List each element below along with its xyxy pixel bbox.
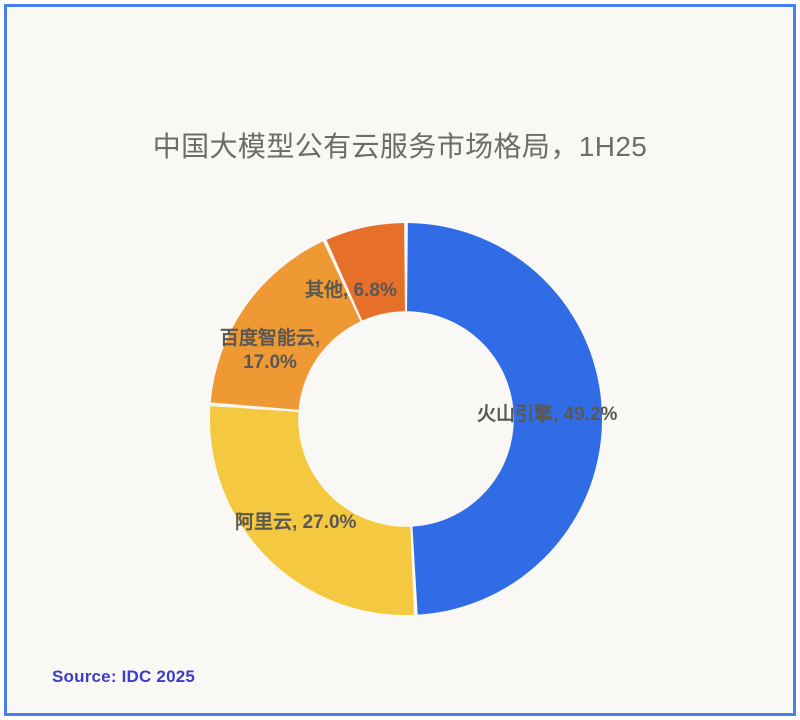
slice-label-aliyun: 阿里云, 27.0% bbox=[235, 511, 356, 535]
donut-slice[interactable] bbox=[211, 241, 361, 409]
slide-frame: 中国大模型公有云服务市场格局，1H25 火山引擎, 49.2% 阿里云, 27.… bbox=[4, 4, 796, 716]
slice-label-baidu: 百度智能云, 17.0% bbox=[215, 327, 325, 376]
donut-chart-svg bbox=[7, 7, 796, 716]
source-note: Source: IDC 2025 bbox=[52, 667, 195, 687]
slide-canvas: 中国大模型公有云服务市场格局，1H25 火山引擎, 49.2% 阿里云, 27.… bbox=[0, 0, 800, 720]
slice-label-huoshan: 火山引擎, 49.2% bbox=[477, 403, 617, 427]
slice-label-qita: 其他, 6.8% bbox=[305, 279, 397, 303]
donut-chart bbox=[7, 7, 793, 713]
